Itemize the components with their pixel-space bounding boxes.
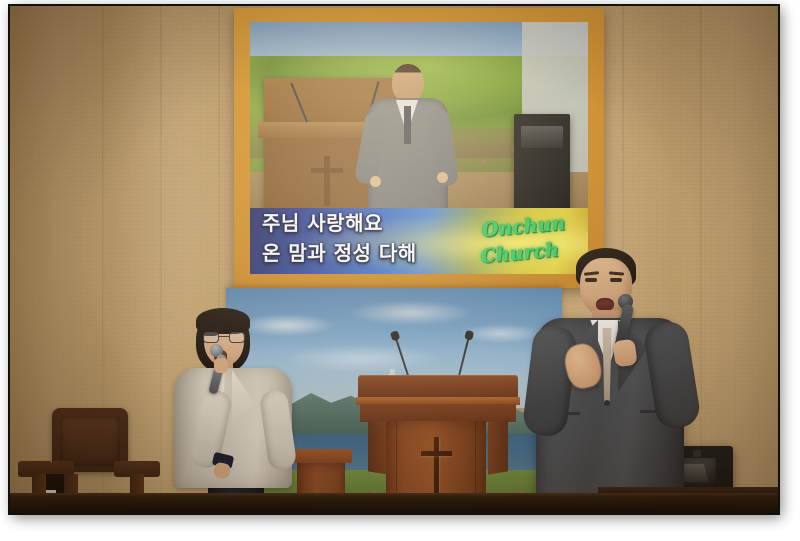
projected-preacher-head xyxy=(392,64,424,102)
projected-speaker-horn xyxy=(521,126,563,148)
pulpit-side-left xyxy=(368,419,388,474)
wall-seam xyxy=(700,6,702,513)
man-eye-left xyxy=(585,278,597,282)
projected-preacher-tie xyxy=(404,106,411,144)
chair-back-panel xyxy=(60,416,120,466)
pulpit-mid xyxy=(360,404,516,422)
man-eye-right xyxy=(610,278,622,282)
man-speaker xyxy=(530,248,690,513)
photo-mount: 주님 사랑해요 온 맘과 정성 다해 Onchun Church xyxy=(0,0,800,541)
projected-preacher-hand xyxy=(370,176,381,187)
eyeglass-bridge xyxy=(219,336,229,337)
projection-screen-frame: 주님 사랑해요 온 맘과 정성 다해 Onchun Church xyxy=(234,8,604,288)
projected-preacher-hand xyxy=(437,172,448,183)
speaker-knob xyxy=(693,450,701,457)
man-hand-on-mic xyxy=(612,339,637,368)
eyeglass-lens-right xyxy=(229,332,245,343)
woman-singer xyxy=(170,306,300,513)
man-suit-button xyxy=(604,400,610,406)
sanctuary-scene: 주님 사랑해요 온 맘과 정성 다해 Onchun Church xyxy=(10,6,778,513)
eyeglass-lens-left xyxy=(203,332,219,343)
woman-hand-on-mic xyxy=(214,358,228,373)
eyeglasses-icon xyxy=(203,332,245,343)
projected-cross-icon xyxy=(324,156,330,206)
pulpit-top xyxy=(358,375,518,397)
pulpit-side-right xyxy=(488,419,508,474)
photograph: 주님 사랑해요 온 맘과 정성 다해 Onchun Church xyxy=(8,4,780,515)
projection-screen: 주님 사랑해요 온 맘과 정성 다해 Onchun Church xyxy=(250,22,588,274)
stage-platform xyxy=(10,497,778,513)
cross-icon xyxy=(434,437,439,499)
main-pulpit xyxy=(358,361,518,513)
